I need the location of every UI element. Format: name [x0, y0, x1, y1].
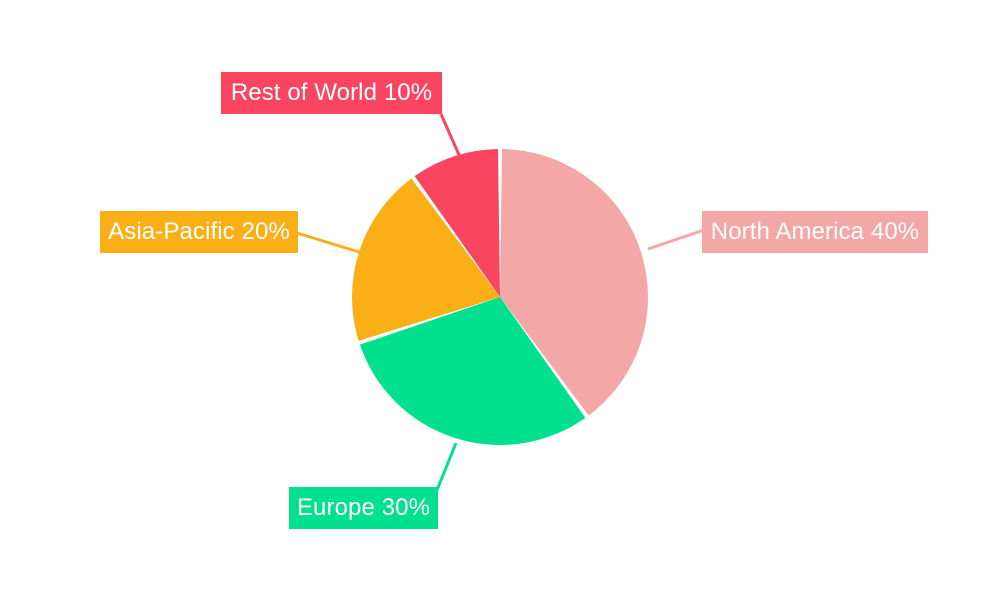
pie-label-text-north-america: North America 40%	[711, 211, 919, 253]
pie-chart-canvas	[0, 0, 1000, 600]
pie-wedges-group	[352, 149, 648, 445]
leader-line-asia-pacific	[297, 233, 359, 252]
pie-label-rest-of-world: Rest of World 10%	[221, 72, 442, 114]
pie-label-asia-pacific: Asia-Pacific 20%	[100, 211, 298, 253]
pie-label-text-asia-pacific: Asia-Pacific 20%	[108, 211, 290, 253]
pie-label-text-rest-of-world: Rest of World 10%	[231, 72, 432, 114]
pie-chart-figure: North America 40% Europe 30% Asia-Pacifi…	[0, 0, 1000, 600]
pie-label-text-europe: Europe 30%	[297, 487, 430, 529]
pie-label-north-america: North America 40%	[702, 211, 928, 253]
leader-line-north-america	[648, 230, 704, 249]
pie-label-europe: Europe 30%	[289, 487, 438, 529]
leader-line-europe	[437, 443, 456, 490]
